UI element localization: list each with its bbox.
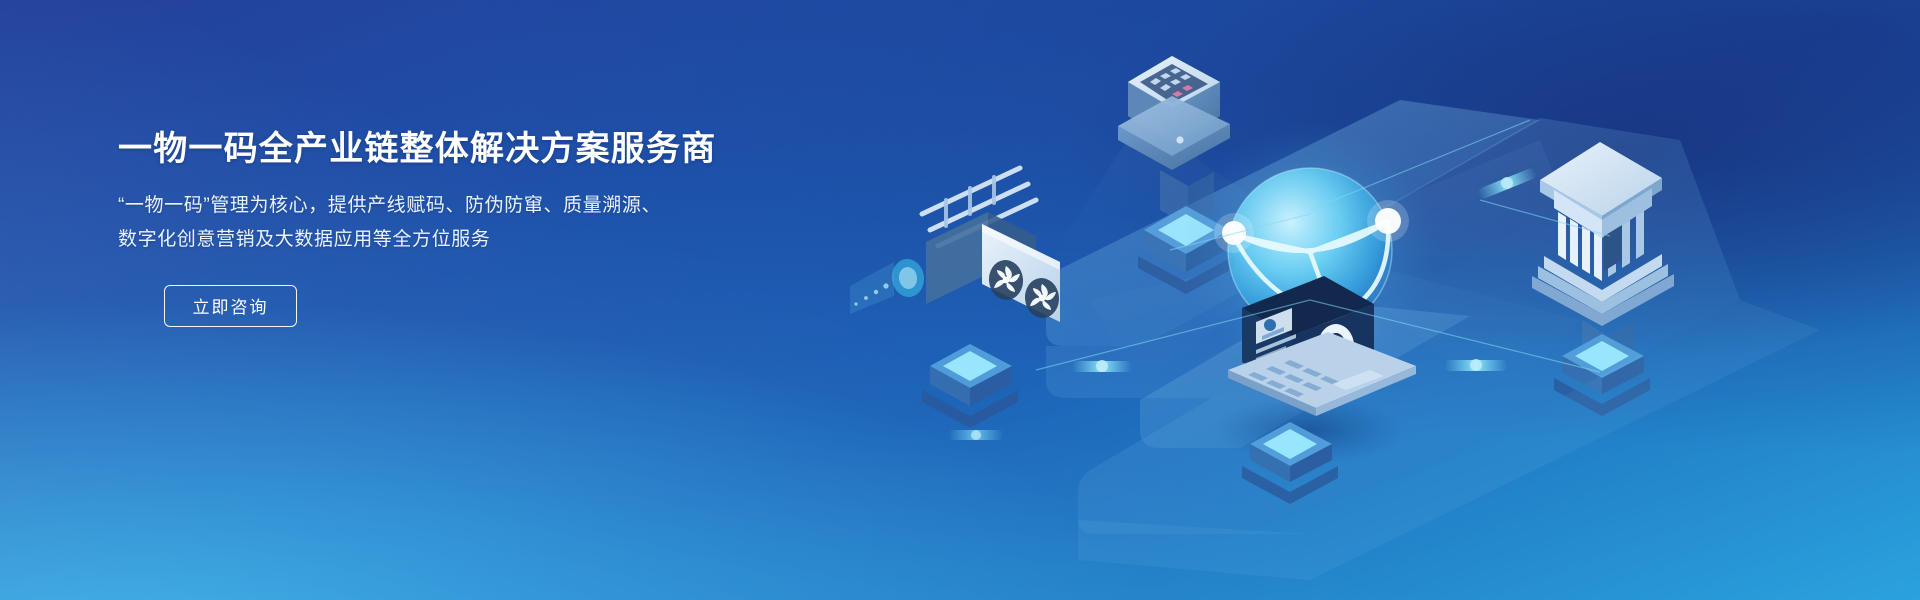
hero-subtitle: “一物一码”管理为核心，提供产线赋码、防伪防窜、质量溯源、 数字化创意营销及大数…	[118, 189, 818, 257]
isometric-network-illustration	[840, 0, 1920, 600]
subtitle-line-1: “一物一码”管理为核心，提供产线赋码、防伪防窜、质量溯源、	[118, 189, 818, 223]
emitter-glow	[850, 257, 926, 314]
hero-copy: 一物一码全产业链整体解决方案服务商 “一物一码”管理为核心，提供产线赋码、防伪防…	[118, 128, 818, 327]
subtitle-line-2: 数字化创意营销及大数据应用等全方位服务	[118, 223, 818, 257]
pedestal-cube-left	[922, 344, 1018, 428]
server-fan-unit-icon	[850, 168, 1061, 322]
consult-now-button[interactable]: 立即咨询	[164, 285, 297, 327]
page-title: 一物一码全产业链整体解决方案服务商	[118, 128, 818, 171]
hero-banner: 一物一码全产业链整体解决方案服务商 “一物一码”管理为核心，提供产线赋码、防伪防…	[0, 0, 1920, 600]
